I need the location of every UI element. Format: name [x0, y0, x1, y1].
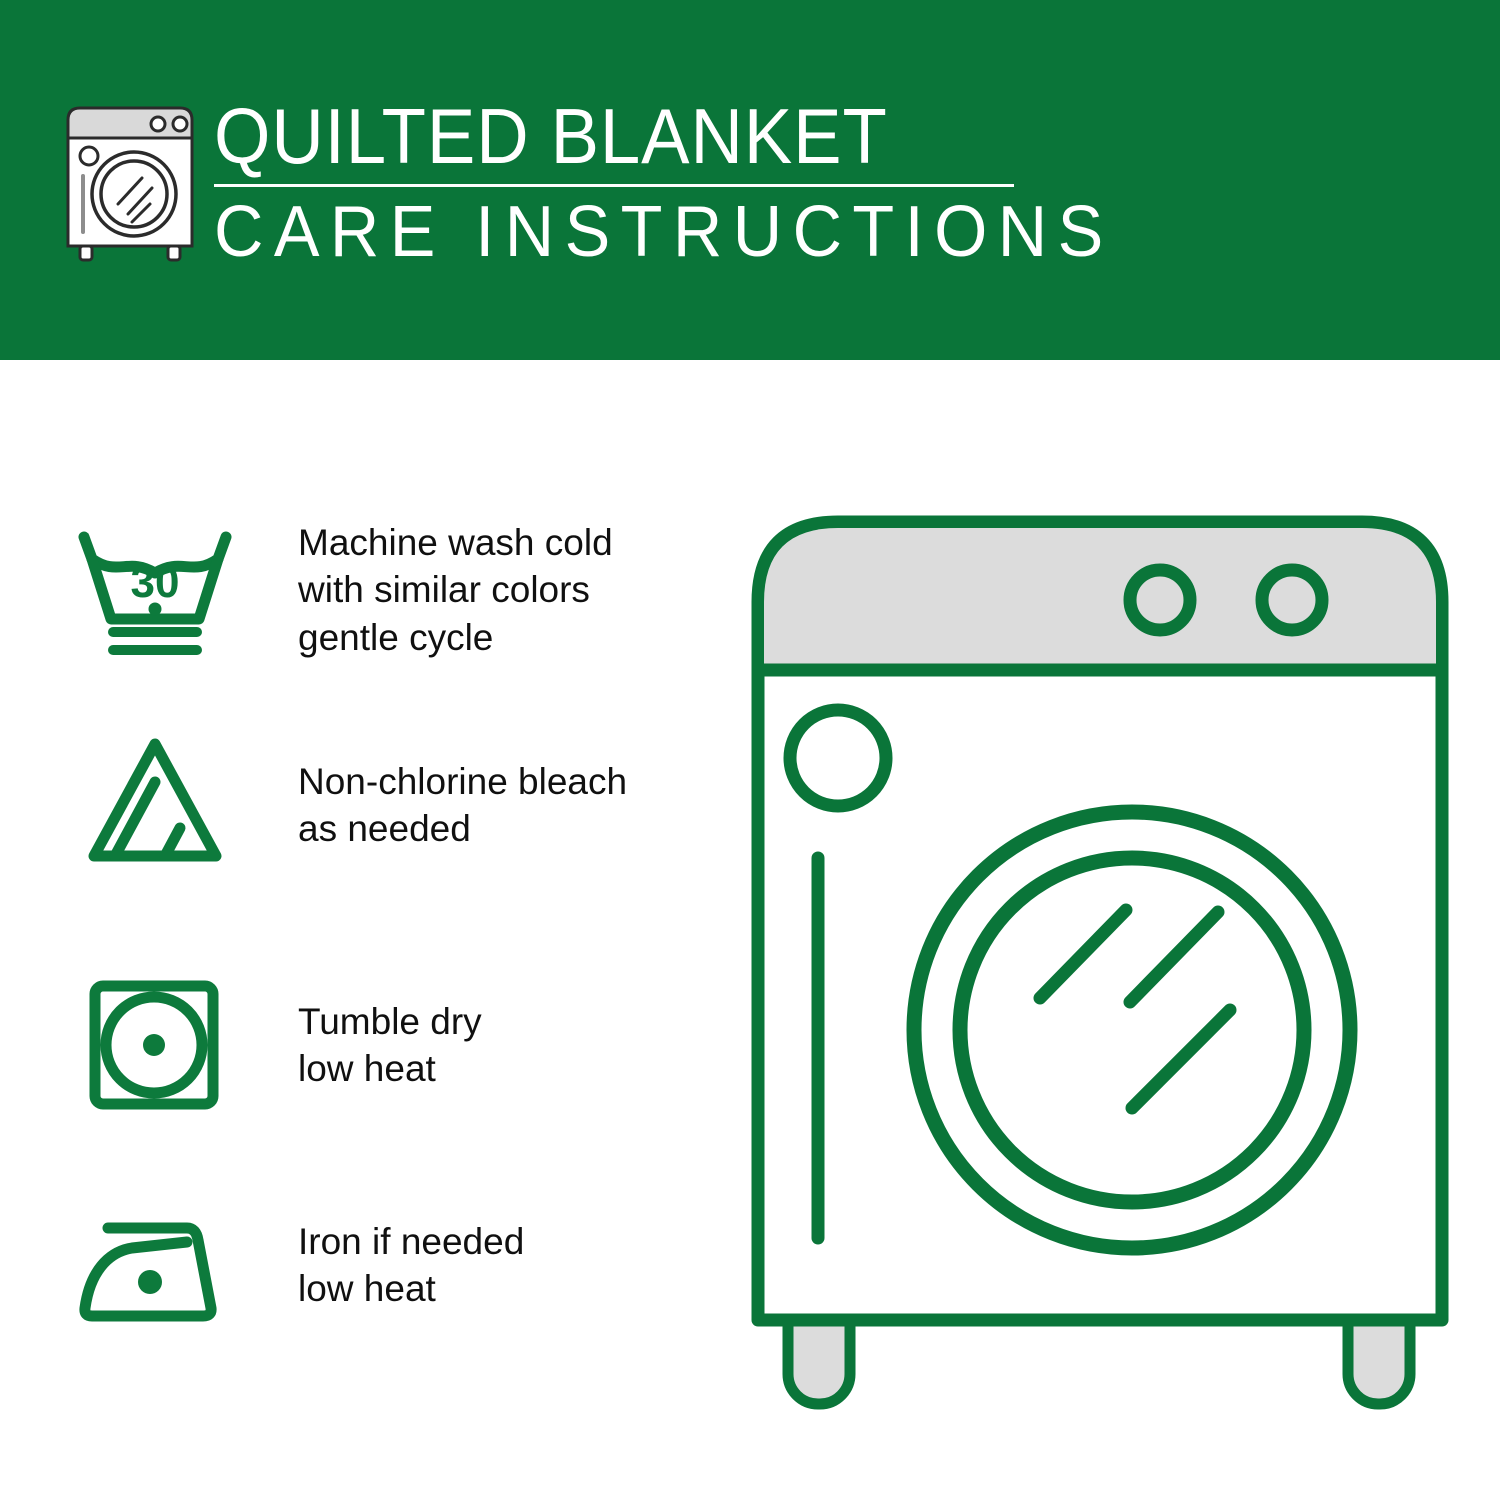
- washing-machine-icon: [62, 104, 202, 264]
- care-text-machine-wash: Machine wash cold with similar colors ge…: [298, 519, 613, 661]
- tumble-dry-low-heat-icon: [70, 970, 240, 1120]
- care-text-tumble-dry: Tumble dry low heat: [298, 998, 482, 1093]
- care-text-bleach: Non-chlorine bleach as needed: [298, 758, 627, 853]
- care-row-tumble-dry: Tumble dry low heat: [70, 970, 482, 1120]
- care-row-machine-wash: 30 Machine wash cold with similar colors…: [70, 515, 613, 665]
- care-instructions-page: QUILTED BLANKET CARE INSTRUCTIONS 30 Mac…: [0, 0, 1500, 1500]
- iron-low-heat-icon: [70, 1190, 240, 1340]
- washing-machine-illustration-wrap: [740, 490, 1460, 1440]
- care-instruction-list: 30 Machine wash cold with similar colors…: [0, 360, 730, 1500]
- wash-temperature-label: 30: [131, 558, 180, 607]
- title-divider: [214, 184, 1014, 187]
- non-chlorine-bleach-triangle-icon: [70, 730, 240, 880]
- detergent-port: [790, 710, 886, 806]
- header-title-group: QUILTED BLANKET CARE INSTRUCTIONS: [214, 98, 1024, 268]
- care-row-iron: Iron if needed low heat: [70, 1190, 524, 1340]
- care-row-bleach: Non-chlorine bleach as needed: [70, 730, 627, 880]
- machine-knob-2: [1262, 570, 1322, 630]
- wash-tub-30-gentle-icon: 30: [70, 515, 240, 665]
- page-title: QUILTED BLANKET: [214, 98, 967, 174]
- machine-knob-1: [1130, 570, 1190, 630]
- care-text-iron: Iron if needed low heat: [298, 1218, 524, 1313]
- machine-control-panel: [764, 528, 1436, 670]
- page-subtitle: CARE INSTRUCTIONS: [214, 196, 984, 268]
- front-load-washing-machine-illustration: [740, 490, 1460, 1440]
- header-band: QUILTED BLANKET CARE INSTRUCTIONS: [0, 0, 1500, 360]
